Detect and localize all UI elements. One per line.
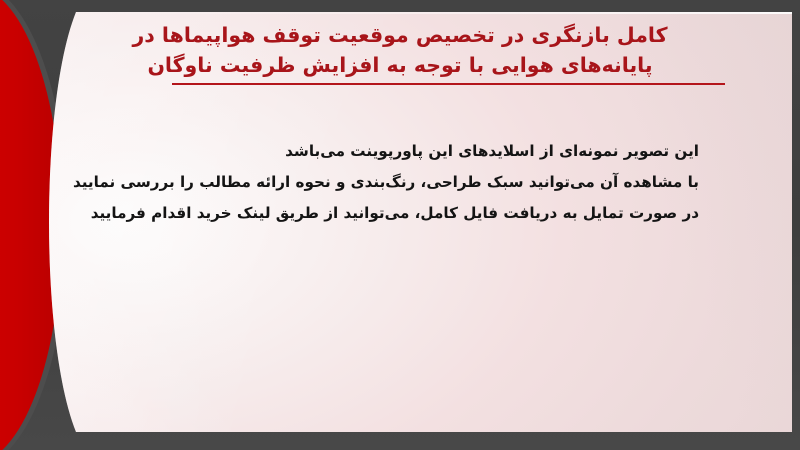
body-line-3: در صورت تمایل به دریافت فایل کامل، می‌تو… [87, 198, 699, 229]
slide-content: کامل بازنگری در تخصیص موقعیت توقف هواپیم… [40, 12, 792, 432]
slide-body-text: این تصویر نمونه‌ای از اسلایدهای این پاور… [87, 136, 699, 229]
slide-title-line-1: کامل بازنگری در تخصیص موقعیت توقف هواپیم… [120, 20, 680, 50]
slide-content-panel: کامل بازنگری در تخصیص موقعیت توقف هواپیم… [40, 12, 792, 432]
slide-title-line-2: پایانه‌های هوایی با توجه به افزایش ظرفیت… [120, 50, 680, 80]
body-line-2: با مشاهده آن می‌توانید سبک طراحی، رنگ‌بن… [87, 167, 699, 198]
title-underline-rule [172, 83, 725, 85]
slide-canvas: کامل بازنگری در تخصیص موقعیت توقف هواپیم… [0, 0, 800, 450]
slide-title: کامل بازنگری در تخصیص موقعیت توقف هواپیم… [120, 20, 680, 80]
body-line-1: این تصویر نمونه‌ای از اسلایدهای این پاور… [87, 136, 699, 167]
